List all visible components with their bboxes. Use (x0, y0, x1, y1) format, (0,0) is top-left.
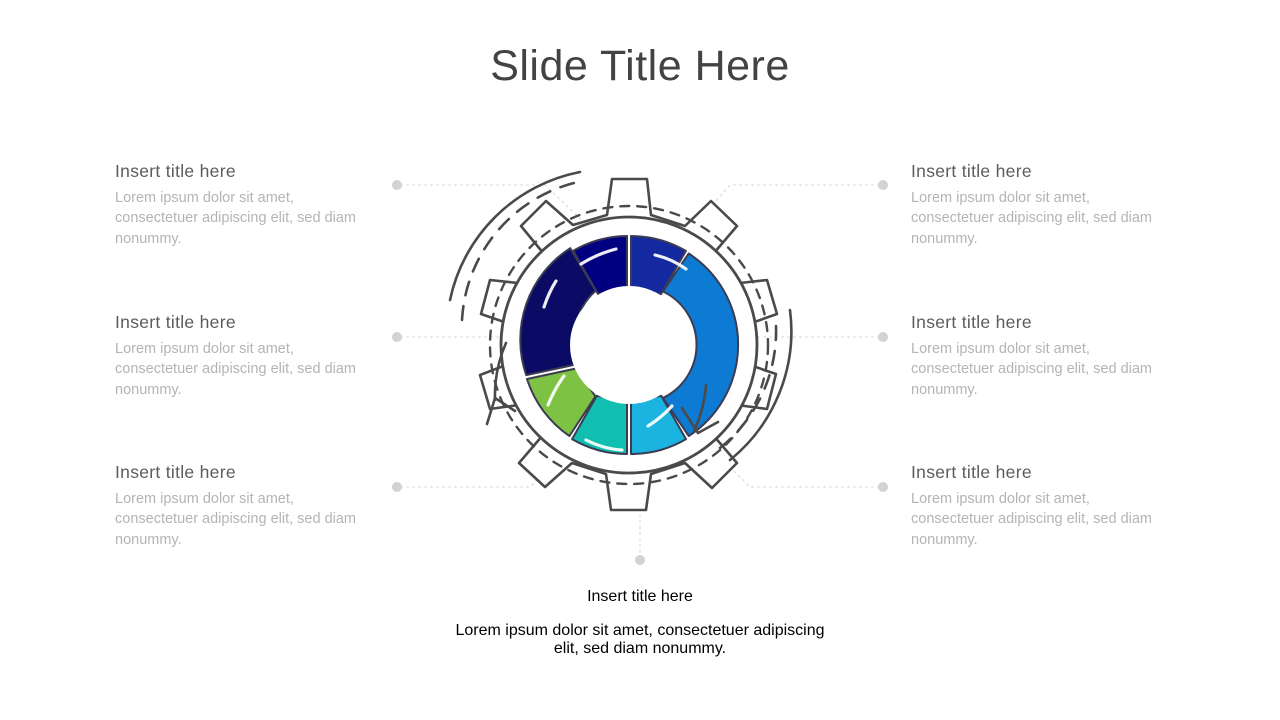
text-block-right-3: Insert title here Lorem ipsum dolor sit … (911, 462, 1161, 551)
text-block-right-2-title: Insert title here (911, 312, 1161, 334)
connector-dot-right-middle (878, 332, 888, 342)
connector-dot-right-top (878, 180, 888, 190)
text-block-right-1-title: Insert title here (911, 161, 1161, 183)
connector-dot-bottom (635, 555, 645, 565)
connector-dot-right-bottom (878, 482, 888, 492)
text-block-left-1-body: Lorem ipsum dolor sit amet, consectetuer… (115, 188, 365, 250)
text-block-right-1: Insert title here Lorem ipsum dolor sit … (911, 161, 1161, 250)
text-block-left-2-body: Lorem ipsum dolor sit amet, consectetuer… (115, 339, 365, 401)
text-block-right-2-body: Lorem ipsum dolor sit amet, consectetuer… (911, 339, 1161, 401)
text-block-left-1-title: Insert title here (115, 161, 365, 183)
gear-donut-svg (380, 160, 900, 570)
text-block-bottom-1-title: Insert title here (455, 588, 825, 606)
text-block-left-3-body: Lorem ipsum dolor sit amet, consectetuer… (115, 489, 365, 551)
text-block-left-3: Insert title here Lorem ipsum dolor sit … (115, 462, 365, 551)
connector-dot-left-bottom (392, 482, 402, 492)
text-block-left-3-title: Insert title here (115, 462, 365, 484)
text-block-left-2-title: Insert title here (115, 312, 365, 334)
connector-dot-left-top (392, 180, 402, 190)
page-title: Slide Title Here (0, 42, 1280, 91)
text-block-right-3-body: Lorem ipsum dolor sit amet, consectetuer… (911, 489, 1161, 551)
text-block-right-1-body: Lorem ipsum dolor sit amet, consectetuer… (911, 188, 1161, 250)
text-block-bottom-1: Insert title here Lorem ipsum dolor sit … (455, 572, 825, 674)
gear-donut-chart (380, 160, 900, 570)
donut-hub (571, 287, 687, 403)
connector-dot-left-middle (392, 332, 402, 342)
text-block-left-1: Insert title here Lorem ipsum dolor sit … (115, 161, 365, 250)
text-block-right-3-title: Insert title here (911, 462, 1161, 484)
slide-canvas: Slide Title Here Insert title here Lorem… (0, 0, 1280, 720)
text-block-right-2: Insert title here Lorem ipsum dolor sit … (911, 312, 1161, 401)
text-block-left-2: Insert title here Lorem ipsum dolor sit … (115, 312, 365, 401)
text-block-bottom-1-body: Lorem ipsum dolor sit amet, consectetuer… (455, 622, 825, 658)
